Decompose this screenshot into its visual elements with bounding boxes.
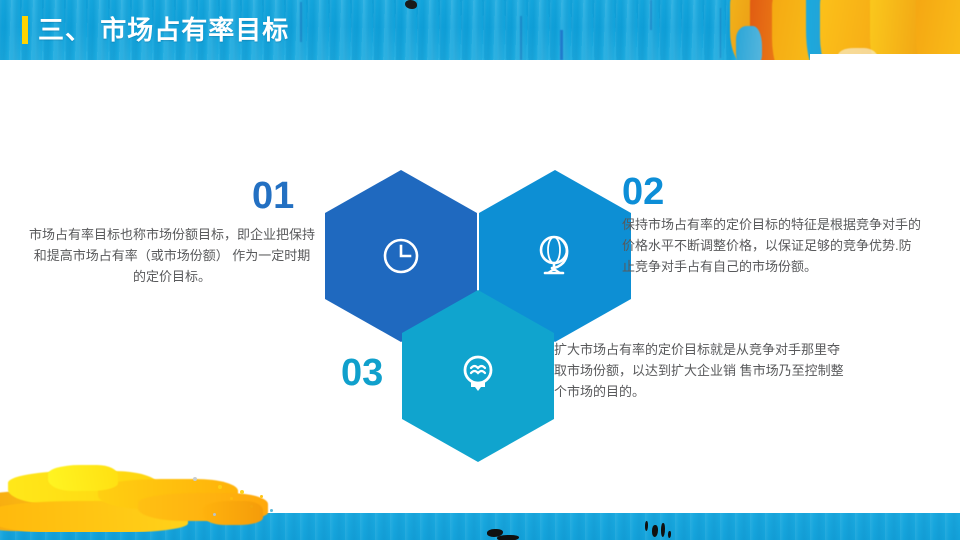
title-accent-bar: [22, 16, 28, 44]
header-notch: [810, 54, 960, 60]
page-title: 三、 市场占有率目标: [22, 13, 289, 47]
title-text: 三、 市场占有率目标: [38, 15, 289, 45]
lightbulb-icon: [458, 353, 498, 399]
header-band: 三、 市场占有率目标: [0, 0, 960, 60]
clock-icon: [381, 236, 421, 276]
item-text-03: 扩大市场占有率的定价目标就是从竞争对手那里夺取市场份额，以达到扩大企业销 售市场…: [554, 339, 852, 402]
item-text-02: 保持市场占有率的定价目标的特征是根据竞争对手的价格水平不断调整价格，以保证足够的…: [622, 214, 922, 277]
item-text-01: 市场占有率目标也称市场份额目标，即企业把保持和提高市场占有率（或市场份额） 作为…: [28, 224, 316, 287]
yellow-brushstroke-decoration: [0, 457, 288, 532]
orange-brushstroke-decoration: [720, 0, 960, 60]
slide-canvas: 三、 市场占有率目标: [0, 0, 960, 540]
item-number-01: 01: [252, 176, 294, 216]
item-number-02: 02: [622, 172, 664, 212]
item-number-03: 03: [341, 353, 383, 393]
globe-icon: [533, 233, 577, 279]
